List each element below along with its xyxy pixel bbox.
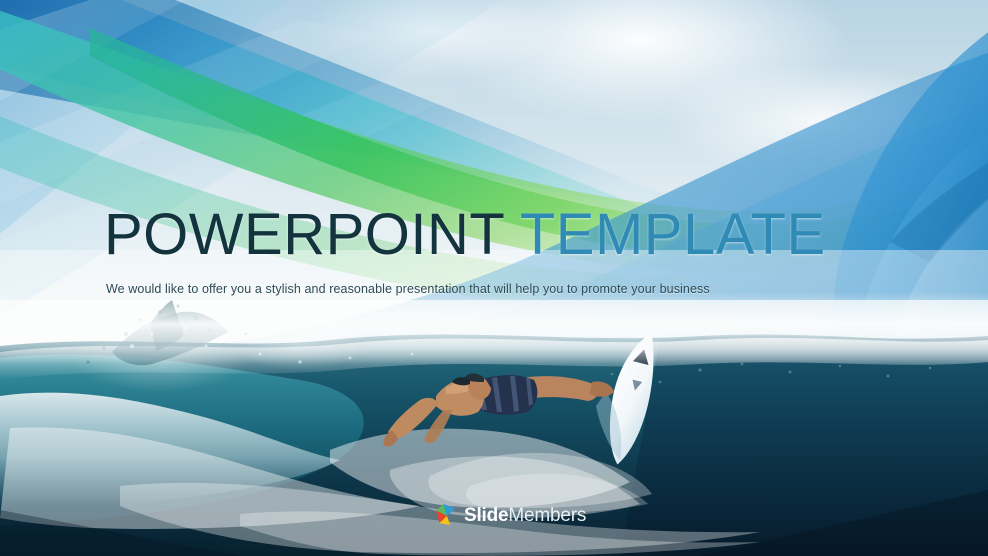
subtitle-text: We would like to offer you a stylish and…: [106, 282, 710, 296]
logo-name-light: Members: [508, 505, 586, 526]
logo-name-bold: Slide: [464, 505, 508, 526]
logo-wordmark: SlideMembers: [464, 503, 586, 529]
presentation-slide: POWERPOINT TEMPLATE We would like to off…: [0, 0, 988, 556]
page-title: POWERPOINT TEMPLATE: [104, 206, 826, 264]
pinwheel-logo-icon: [434, 503, 460, 529]
title-part-two: TEMPLATE: [504, 202, 825, 267]
title-part-one: POWERPOINT: [104, 202, 504, 267]
slidemembers-logo[interactable]: SlideMembers: [434, 503, 586, 529]
